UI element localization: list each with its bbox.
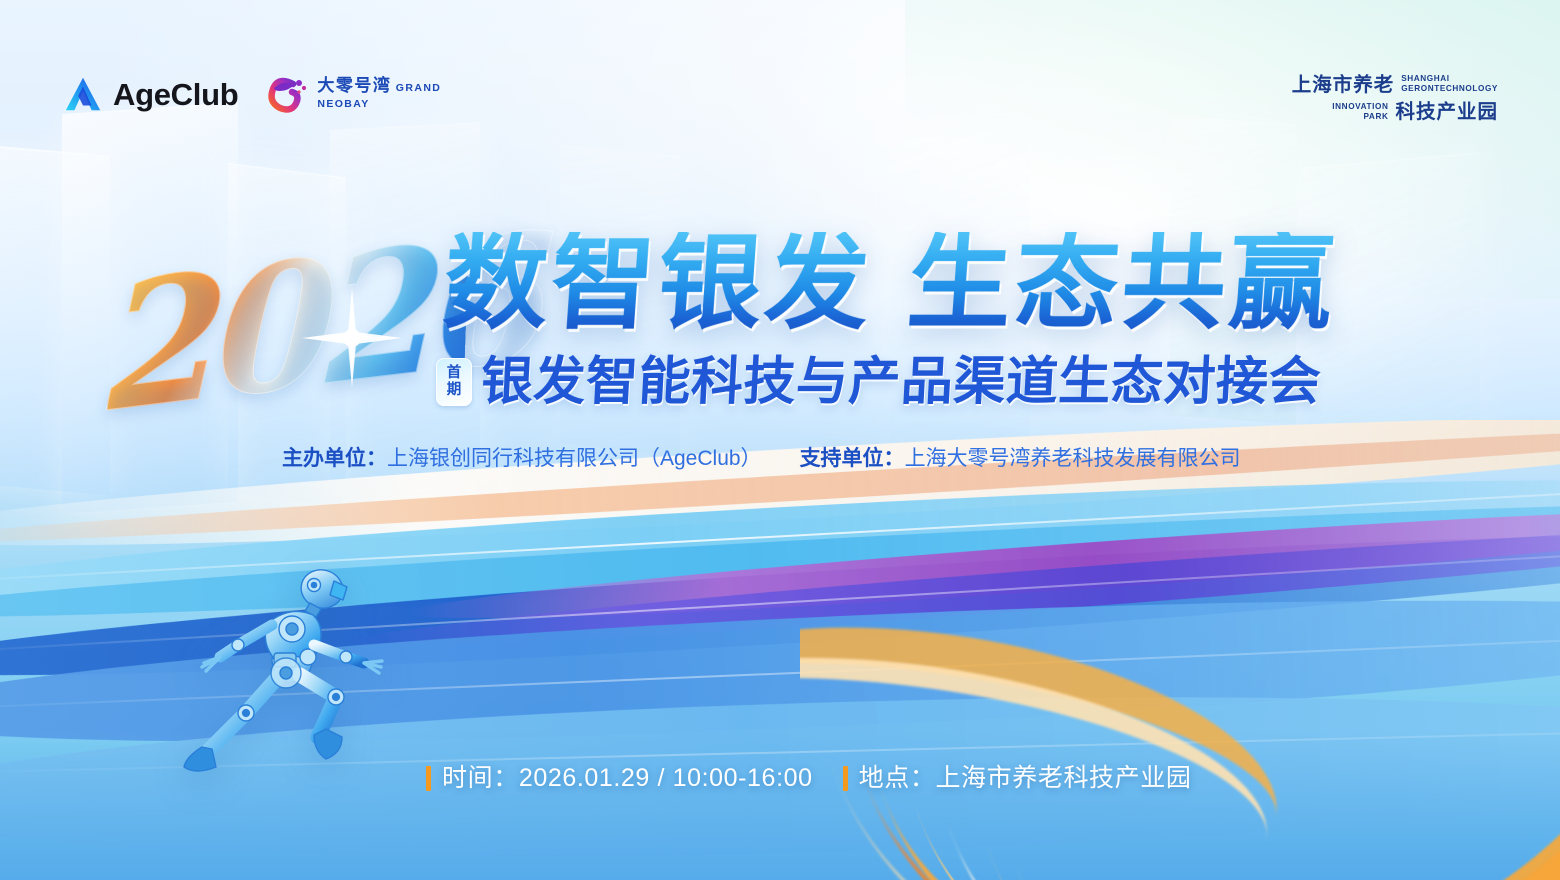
hero-subtitle-row: 首 期 银发智能科技与产品渠道生态对接会 (436, 356, 1321, 408)
event-info-bar: 时间：2026.01.29 / 10:00-16:00 地点：上海市养老科技产业… (426, 766, 1191, 791)
park-en-line4: PARK (1363, 112, 1388, 121)
neobay-cn-name: 大零号湾 (317, 76, 391, 95)
place-label: 地点： (859, 764, 936, 792)
park-en-line2: GERONTECHNOLOGY (1401, 84, 1498, 93)
park-cn-line2: 科技产业园 (1395, 102, 1498, 124)
support-organization: 支持单位：上海大零号湾养老科技发展有限公司 (800, 448, 1241, 469)
event-banner: AgeClub (0, 0, 1560, 880)
ageclub-a-mark-icon (62, 73, 104, 115)
time-label: 时间： (442, 764, 519, 792)
support-label: 支持单位： (800, 447, 905, 470)
time-value: 2026.01.29 / 10:00-16:00 (519, 764, 813, 792)
event-time: 时间：2026.01.29 / 10:00-16:00 (426, 766, 813, 791)
park-cn-line1: 上海市养老 (1292, 75, 1395, 97)
organizer-row: 主办单位：上海银创同行科技有限公司（AgeClub） 支持单位：上海大零号湾养老… (282, 448, 1241, 469)
first-session-badge: 首 期 (436, 358, 472, 406)
accent-bar-icon (843, 766, 848, 791)
partner-logos-left: AgeClub (62, 72, 441, 116)
headline-part1: 数智银发 (440, 232, 875, 336)
host-label: 主办单位： (282, 447, 387, 470)
host-value: 上海银创同行科技有限公司（AgeClub） (387, 447, 762, 470)
host-organization: 主办单位：上海银创同行科技有限公司（AgeClub） (282, 448, 762, 469)
year-2026-calligraphy: 2026 (106, 209, 470, 445)
park-en-line3: INNOVATION (1332, 102, 1388, 111)
ageclub-wordmark: AgeClub (113, 79, 238, 110)
event-place: 地点：上海市养老科技产业园 (843, 766, 1192, 791)
hero-subtitle: 银发智能科技与产品渠道生态对接会 (480, 356, 1323, 408)
neobay-en-line2: NEOBAY (317, 98, 369, 110)
orange-swirl-graphic (800, 440, 1560, 880)
badge-line1: 首 (447, 366, 462, 381)
shanghai-park-logo[interactable]: 上海市养老 SHANGHAI GERONTECHNOLOGY INNOVATIO… (1292, 74, 1498, 124)
ageclub-logo[interactable]: AgeClub (62, 73, 238, 115)
accent-bar-icon (426, 766, 431, 791)
badge-line2: 期 (447, 383, 462, 398)
grand-neobay-logo[interactable]: 大零号湾 GRAND NEOBAY (264, 72, 441, 116)
park-en-line1: SHANGHAI (1401, 74, 1449, 83)
grand-neobay-swirl-icon (264, 72, 308, 116)
neobay-en-line1: GRAND (396, 82, 442, 94)
running-robot-illustration (150, 545, 400, 795)
headline-part2: 生态共赢 (904, 232, 1339, 336)
support-value: 上海大零号湾养老科技发展有限公司 (905, 447, 1241, 470)
place-value: 上海市养老科技产业园 (935, 764, 1191, 792)
hero-headline: 数智银发 生态共赢 (444, 232, 1336, 336)
